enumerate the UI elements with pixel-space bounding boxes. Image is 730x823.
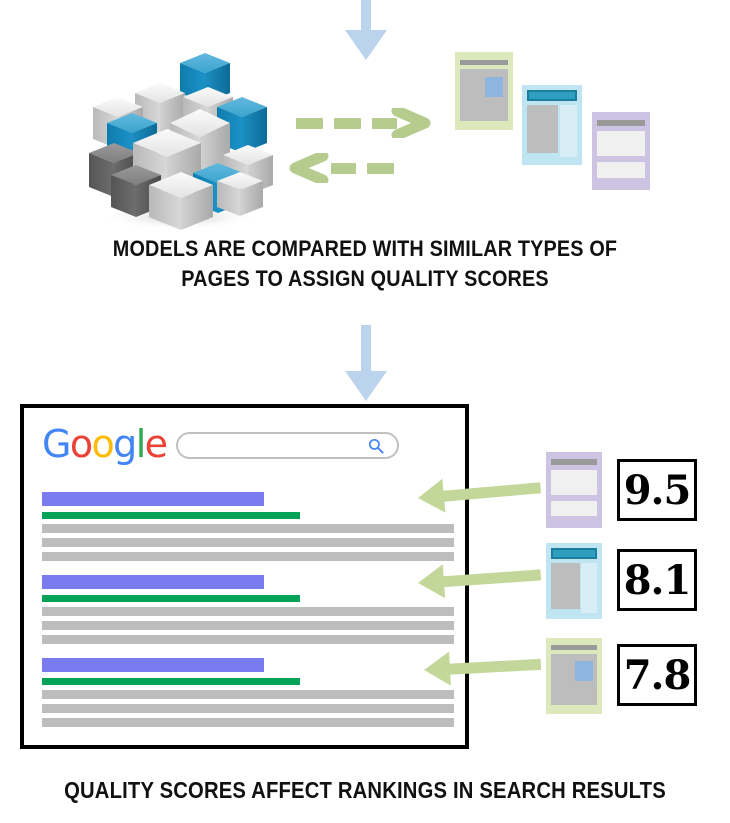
- headline-top: MODELS ARE COMPARED WITH SIMILAR TYPES O…: [44, 234, 686, 294]
- dashed-arrow-left-head: [287, 153, 329, 183]
- result-snippet-line: [42, 621, 454, 630]
- page-thumb-purple-score: [546, 452, 602, 528]
- score-box-2: 8.1: [617, 549, 697, 611]
- google-logo-letter-l: l: [136, 425, 145, 463]
- score-value-3: 7.8: [624, 652, 691, 699]
- result-url-bar: [42, 678, 300, 685]
- infographic-canvas: MODELS ARE COMPARED WITH SIMILAR TYPES O…: [0, 0, 730, 823]
- page-thumb-green-top: [455, 52, 513, 130]
- thumb-sidebar: [581, 563, 597, 613]
- result-title-bar: [42, 575, 264, 589]
- result-title-bar: [42, 492, 264, 506]
- dashed-arrow-left: [287, 155, 422, 181]
- page-thumb-green-score: [546, 638, 602, 714]
- result-snippet-line: [42, 690, 454, 699]
- thumb-block-1: [597, 131, 645, 156]
- page-thumb-purple-top: [592, 112, 650, 190]
- search-result-2[interactable]: [42, 575, 454, 649]
- google-logo-letter-o1: o: [70, 425, 92, 463]
- headline-top-line2: PAGES TO ASSIGN QUALITY SCORES: [44, 264, 686, 294]
- google-logo-letter-g2: g: [113, 425, 136, 463]
- result-snippet-line: [42, 718, 454, 727]
- search-box[interactable]: [176, 432, 399, 459]
- result-url-bar: [42, 595, 300, 602]
- search-result-3[interactable]: [42, 658, 454, 732]
- thumb-block-2: [551, 501, 597, 516]
- headline-bottom: QUALITY SCORES AFFECT RANKINGS IN SEARCH…: [44, 775, 686, 805]
- thumb-image-block: [575, 661, 593, 681]
- score-value-2: 8.1: [624, 557, 691, 604]
- result-snippet-line: [42, 704, 454, 713]
- thumb-image-block: [485, 77, 503, 97]
- result-snippet-line: [42, 635, 454, 644]
- blue-down-arrow-middle: [348, 325, 394, 403]
- thumb-header-bar: [527, 90, 577, 101]
- google-logo-letter-o2: o: [92, 425, 114, 463]
- score-arrow-2: [417, 557, 542, 599]
- result-url-bar: [42, 512, 300, 519]
- google-logo-letter-g1: G: [42, 425, 70, 463]
- score-box-3: 7.8: [617, 644, 697, 706]
- search-icon[interactable]: [368, 438, 384, 454]
- dashed-arrow-right: [296, 110, 431, 136]
- score-arrow-3: [423, 647, 542, 687]
- thumb-body: [527, 105, 558, 153]
- result-title-bar: [42, 658, 264, 672]
- result-snippet-line: [42, 524, 454, 533]
- google-logo: Google: [42, 425, 166, 463]
- search-result-1[interactable]: [42, 492, 454, 566]
- thumb-sidebar: [560, 105, 577, 157]
- result-snippet-line: [42, 607, 454, 616]
- score-value-1: 9.5: [624, 467, 691, 514]
- thumb-block-2: [597, 162, 645, 178]
- thumb-header-bar: [551, 645, 597, 650]
- search-input[interactable]: [186, 434, 370, 459]
- google-logo-letter-e: e: [145, 425, 167, 463]
- page-thumb-blue-score: [546, 543, 602, 619]
- thumb-header-bar: [460, 60, 508, 65]
- thumb-header-bar: [551, 548, 597, 559]
- search-results-panel: Google: [20, 404, 469, 749]
- result-snippet-line: [42, 552, 454, 561]
- blue-down-arrow-top: [345, 0, 395, 62]
- result-snippet-line: [42, 538, 454, 547]
- dashed-arrow-right-head: [391, 108, 433, 138]
- cube-cluster-svg: [75, 45, 280, 230]
- thumb-body: [551, 563, 580, 609]
- 3d-cube-cluster-icon: [75, 45, 280, 230]
- score-box-1: 9.5: [617, 459, 697, 521]
- page-thumb-blue-top: [522, 85, 582, 165]
- thumb-header-bar: [551, 459, 597, 465]
- headline-top-line1: MODELS ARE COMPARED WITH SIMILAR TYPES O…: [44, 234, 686, 264]
- thumb-block-1: [551, 470, 597, 495]
- cube: [217, 172, 263, 216]
- thumb-header-bar: [597, 120, 645, 126]
